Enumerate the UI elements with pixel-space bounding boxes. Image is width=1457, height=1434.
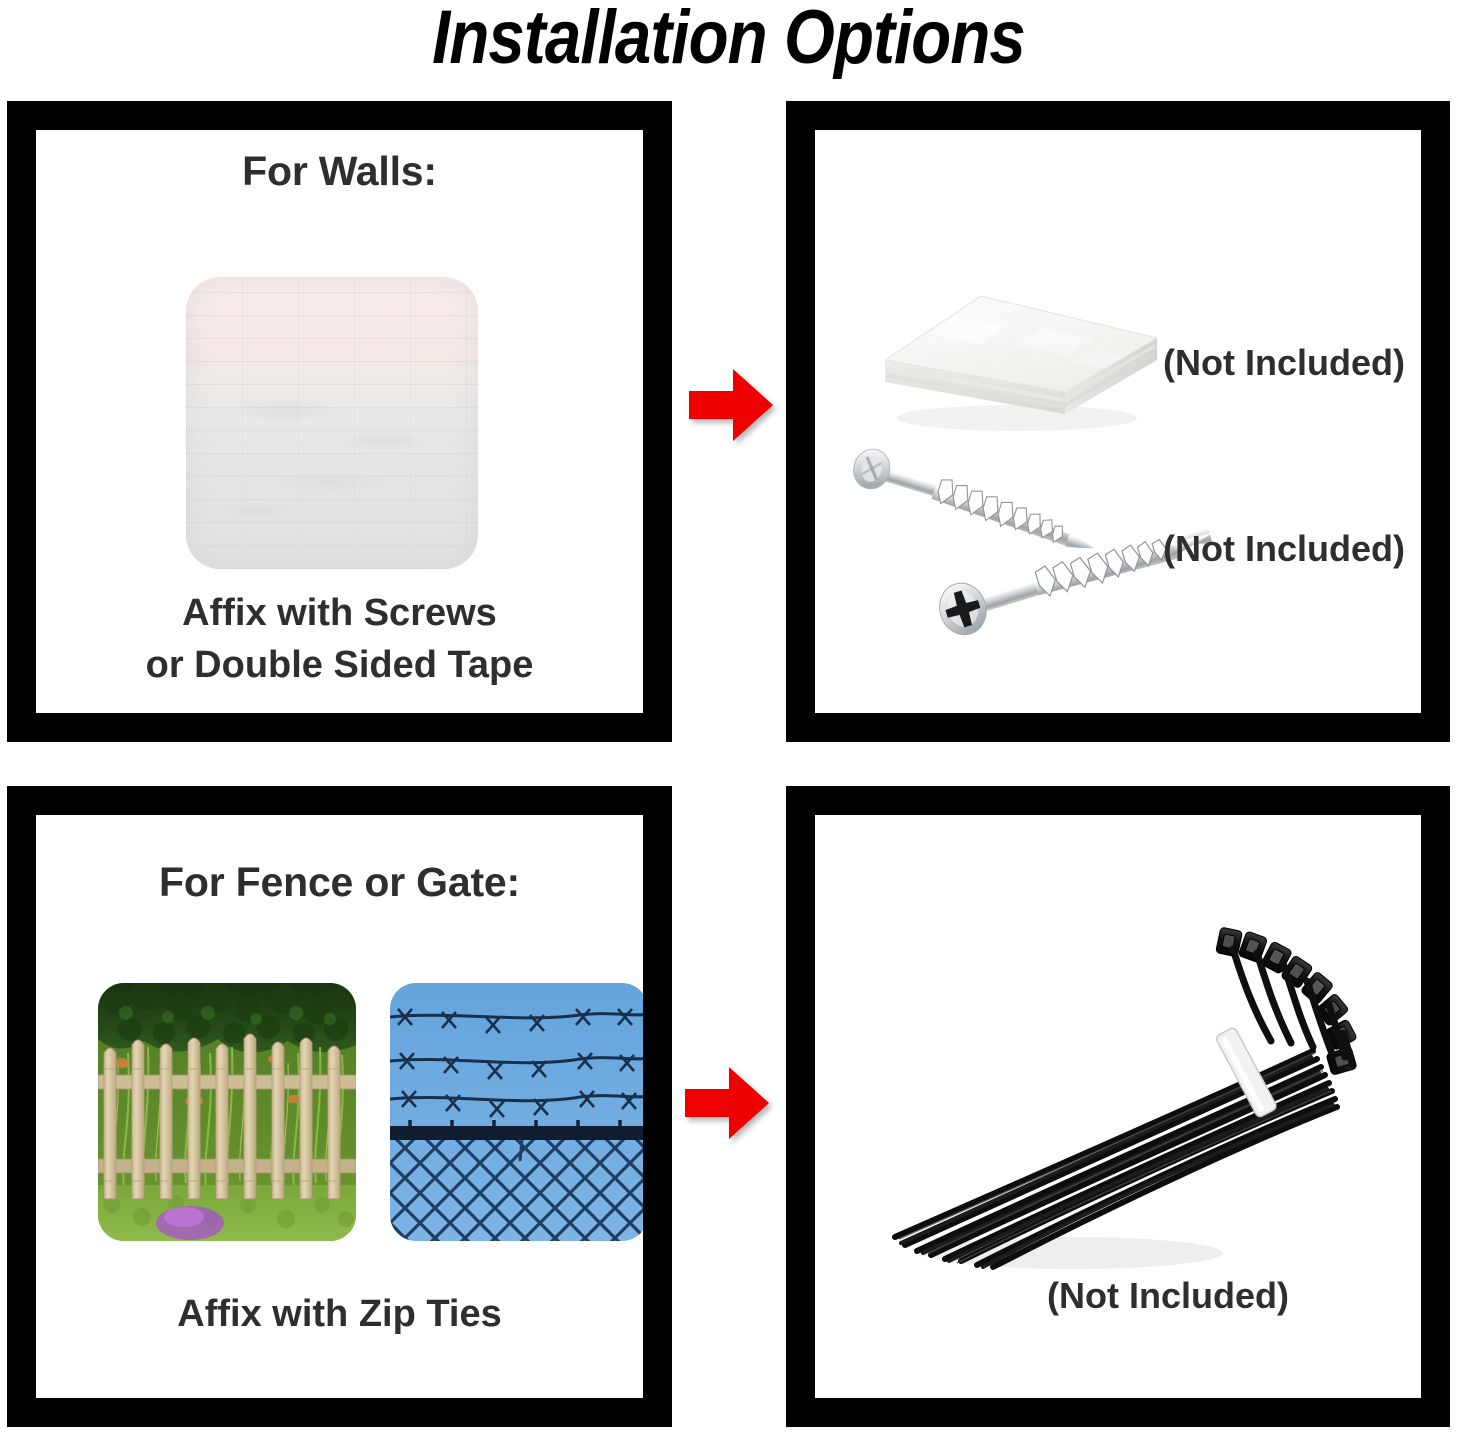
double-sided-tape-image (857, 242, 1177, 442)
arrow-right-icon-walls (687, 365, 775, 445)
white-brick-wall-image (186, 277, 478, 569)
panel-fence-caption: Affix with Zip Ties (36, 1289, 643, 1340)
zipties-not-included-note: (Not Included) (1047, 1275, 1289, 1317)
chain-link-barbed-wire-fence-image (390, 983, 643, 1241)
tape-not-included-note: (Not Included) (1163, 342, 1405, 384)
screws-not-included-note: (Not Included) (1163, 528, 1405, 570)
walls-caption-line-2: or Double Sided Tape (36, 640, 643, 691)
wooden-picket-fence-image (98, 983, 356, 1241)
page-title: Installation Options (102, 0, 1355, 81)
panel-for-fence-or-gate: For Fence or Gate: (7, 786, 672, 1427)
arrow-right-icon-fence (683, 1063, 771, 1143)
panel-walls-heading: For Walls: (36, 148, 643, 195)
panel-hardware: (Not Included) (786, 101, 1450, 742)
panel-for-walls: For Walls: Affix with Screws or Double S… (7, 101, 672, 742)
panel-zip-ties: (Not Included) (786, 786, 1450, 1427)
walls-caption-line-1: Affix with Screws (36, 588, 643, 639)
panel-walls-caption: Affix with Screws or Double Sided Tape (36, 588, 643, 691)
panel-fence-heading: For Fence or Gate: (36, 859, 643, 906)
zip-tie-bundle-image (843, 901, 1373, 1301)
